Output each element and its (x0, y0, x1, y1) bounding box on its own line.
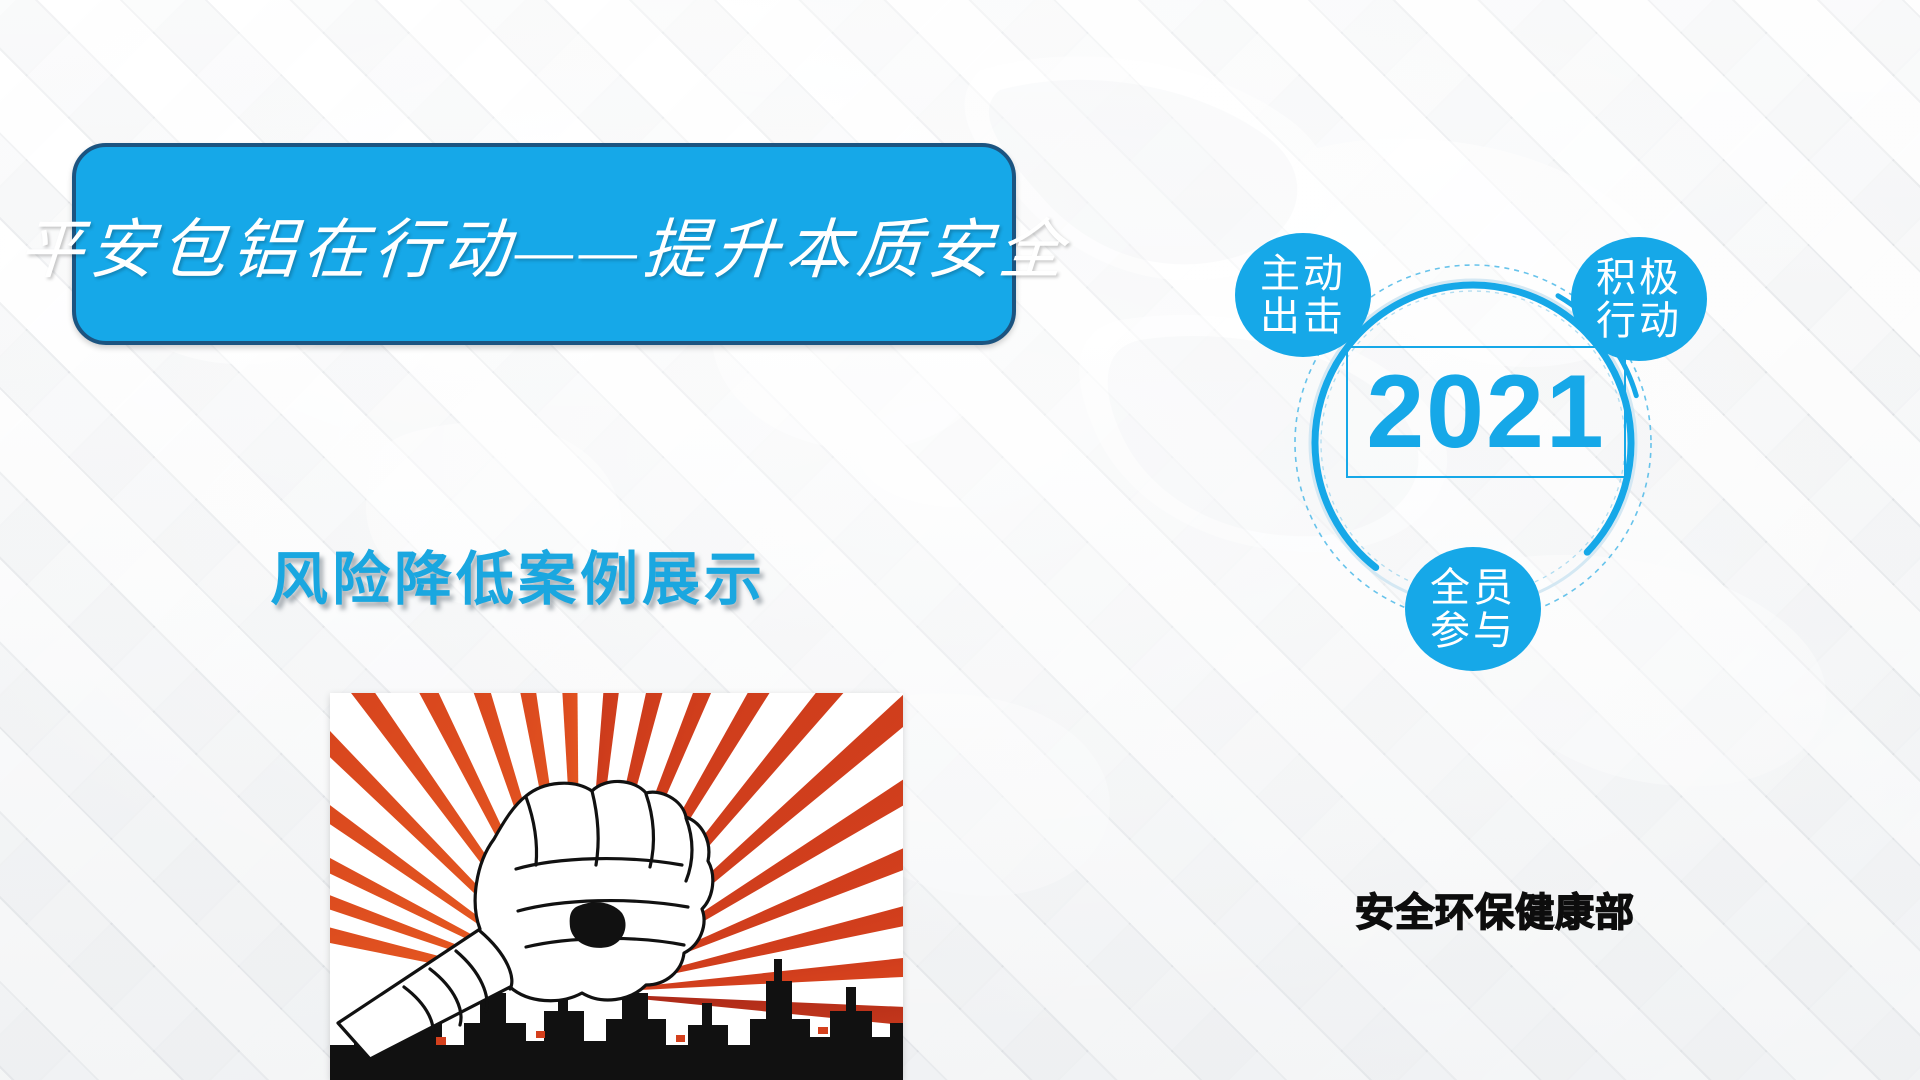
year-label: 2021 (1366, 360, 1605, 464)
bubble-active-action: 积极 行动 (1571, 237, 1707, 361)
bubble-full-participation: 全员 参与 (1405, 547, 1541, 671)
bubble-line-1: 全员 (1430, 566, 1516, 609)
bubble-line-2: 参与 (1430, 609, 1516, 652)
subtitle-text: 风险降低案例展示 (270, 532, 766, 616)
page-title: 平安包铝在行动——提升本质安全 (15, 197, 1072, 291)
bubble-line-2: 行动 (1596, 299, 1682, 342)
bubble-line-1: 积极 (1596, 256, 1682, 299)
title-banner: 平安包铝在行动——提升本质安全 (72, 143, 1016, 345)
year-badge-group: 主动 出击 积极 行动 全员 参与 2021 (1255, 245, 1695, 685)
department-label: 安全环保健康部 (1355, 882, 1635, 938)
year-box: 2021 (1346, 346, 1626, 478)
fist-illustration (330, 693, 903, 1080)
presentation-slide: 平安包铝在行动——提升本质安全 风险降低案例展示 (0, 0, 1920, 1080)
bubble-line-2: 出击 (1260, 295, 1346, 338)
bubble-line-1: 主动 (1260, 252, 1346, 295)
bubble-proactive-strike: 主动 出击 (1235, 233, 1371, 357)
